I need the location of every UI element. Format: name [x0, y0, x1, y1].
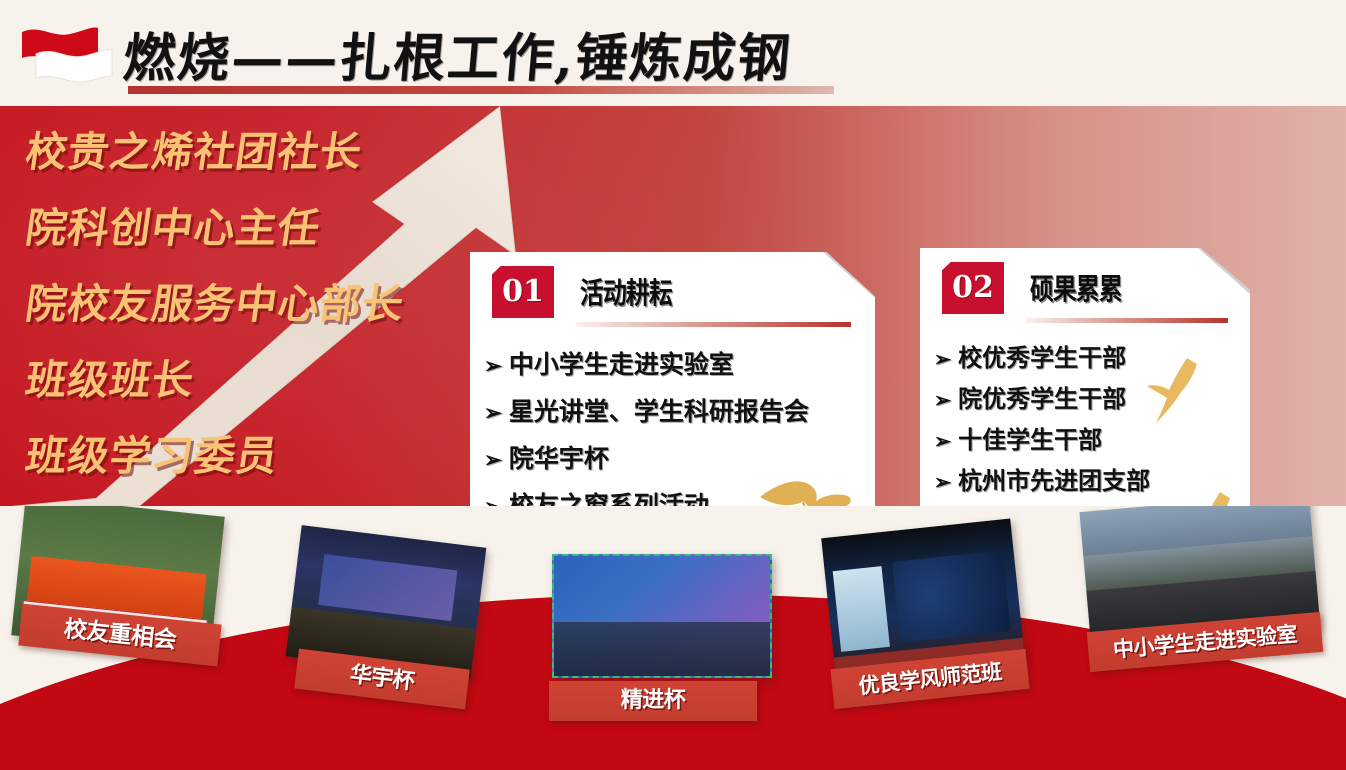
bullet-marker-icon: ➢: [934, 422, 951, 461]
flag-icon: [18, 26, 116, 88]
content-card-01[interactable]: 01 活动耕耘 ➢ 中小学生走进实验室 ➢ 星光讲堂、学生科研报告会 ➢ 院华宇…: [470, 252, 875, 506]
card-number-badge: 02: [942, 262, 1004, 314]
list-item-label: 星光讲堂、学生科研报告会: [509, 389, 809, 434]
content-card-02[interactable]: 02 硕果累累 ➢ 校优秀学生干部 ➢ 院优秀学生干部 ➢ 十佳学生干部: [920, 248, 1250, 506]
card-title: 硕果累累: [1030, 266, 1122, 308]
photo-image: [552, 554, 772, 678]
roles-list: 校贵之烯社团社长 院科创中心主任 院校友服务中心部长 班级班长 班级学习委员: [26, 114, 496, 494]
role-item: 班级班长: [21, 342, 502, 418]
bullet-marker-icon: ➢: [934, 463, 951, 502]
list-item: ➢ 十佳学生干部: [934, 420, 1250, 461]
photo-caption: 精进杯: [549, 681, 757, 721]
list-item-label: 中小学生走进实验室: [509, 342, 734, 387]
card-header: 01 活动耕耘: [470, 252, 875, 326]
bullet-marker-icon: ➢: [484, 344, 502, 389]
card-bullet-list: ➢ 校优秀学生干部 ➢ 院优秀学生干部 ➢ 十佳学生干部 ➢ 杭州市先进团支部 …: [920, 322, 1250, 506]
list-item-label: 院优秀学生干部: [958, 379, 1126, 418]
card-bullet-list: ➢ 中小学生走进实验室 ➢ 星光讲堂、学生科研报告会 ➢ 院华宇杯 ➢ 校友之窗…: [470, 326, 875, 506]
list-item: ➢ 中小学生走进实验室: [484, 342, 875, 389]
role-item: 院科创中心主任: [21, 190, 502, 266]
bullet-marker-icon: ➢: [484, 438, 502, 483]
red-content-panel: 校贵之烯社团社长 院科创中心主任 院校友服务中心部长 班级班长 班级学习委员 0…: [0, 106, 1346, 506]
list-item: ➢ 校友之窗系列活动: [484, 483, 875, 506]
card-number-badge: 01: [492, 266, 554, 318]
role-item: 班级学习委员: [21, 418, 502, 494]
role-item: 院校友服务中心部长: [21, 266, 502, 342]
bullet-marker-icon: ➢: [934, 340, 951, 379]
list-item: ➢ 校优秀学生干部: [934, 338, 1250, 379]
list-item-label: 十佳学生干部: [958, 420, 1102, 459]
list-item: ➢ 院华宇杯: [484, 436, 875, 483]
list-item-label: 校友之窗系列活动: [509, 483, 709, 506]
list-item: ➢ 杭州市先进团支部: [934, 461, 1250, 502]
bullet-marker-icon: ➢: [484, 485, 502, 506]
card-header: 02 硕果累累: [920, 248, 1250, 322]
slide-header: 燃烧——扎根工作,锤炼成钢: [0, 0, 1346, 106]
bullet-marker-icon: ➢: [934, 381, 951, 420]
bullet-marker-icon: ➢: [484, 391, 502, 436]
slide-canvas: 燃烧——扎根工作,锤炼成钢 校贵之烯社团社长 院科创中心主任 院校友服务中心部长…: [0, 0, 1346, 770]
role-item: 校贵之烯社团社长: [21, 114, 502, 190]
card-title: 活动耕耘: [580, 270, 672, 312]
photo-card[interactable]: [552, 554, 768, 674]
title-underline: [128, 86, 834, 94]
list-item-label: 杭州市先进团支部: [958, 461, 1150, 500]
page-title: 燃烧——扎根工作,锤炼成钢: [121, 16, 796, 91]
list-item-label: 校优秀学生干部: [958, 338, 1126, 377]
photo-gallery-strip: 校友重相会 华宇杯 精进杯 优良学风师范班: [0, 506, 1346, 770]
list-item: ➢ 星光讲堂、学生科研报告会: [484, 389, 875, 436]
list-item: ➢ 院优秀学生干部: [934, 379, 1250, 420]
list-item-label: 院华宇杯: [509, 436, 609, 481]
